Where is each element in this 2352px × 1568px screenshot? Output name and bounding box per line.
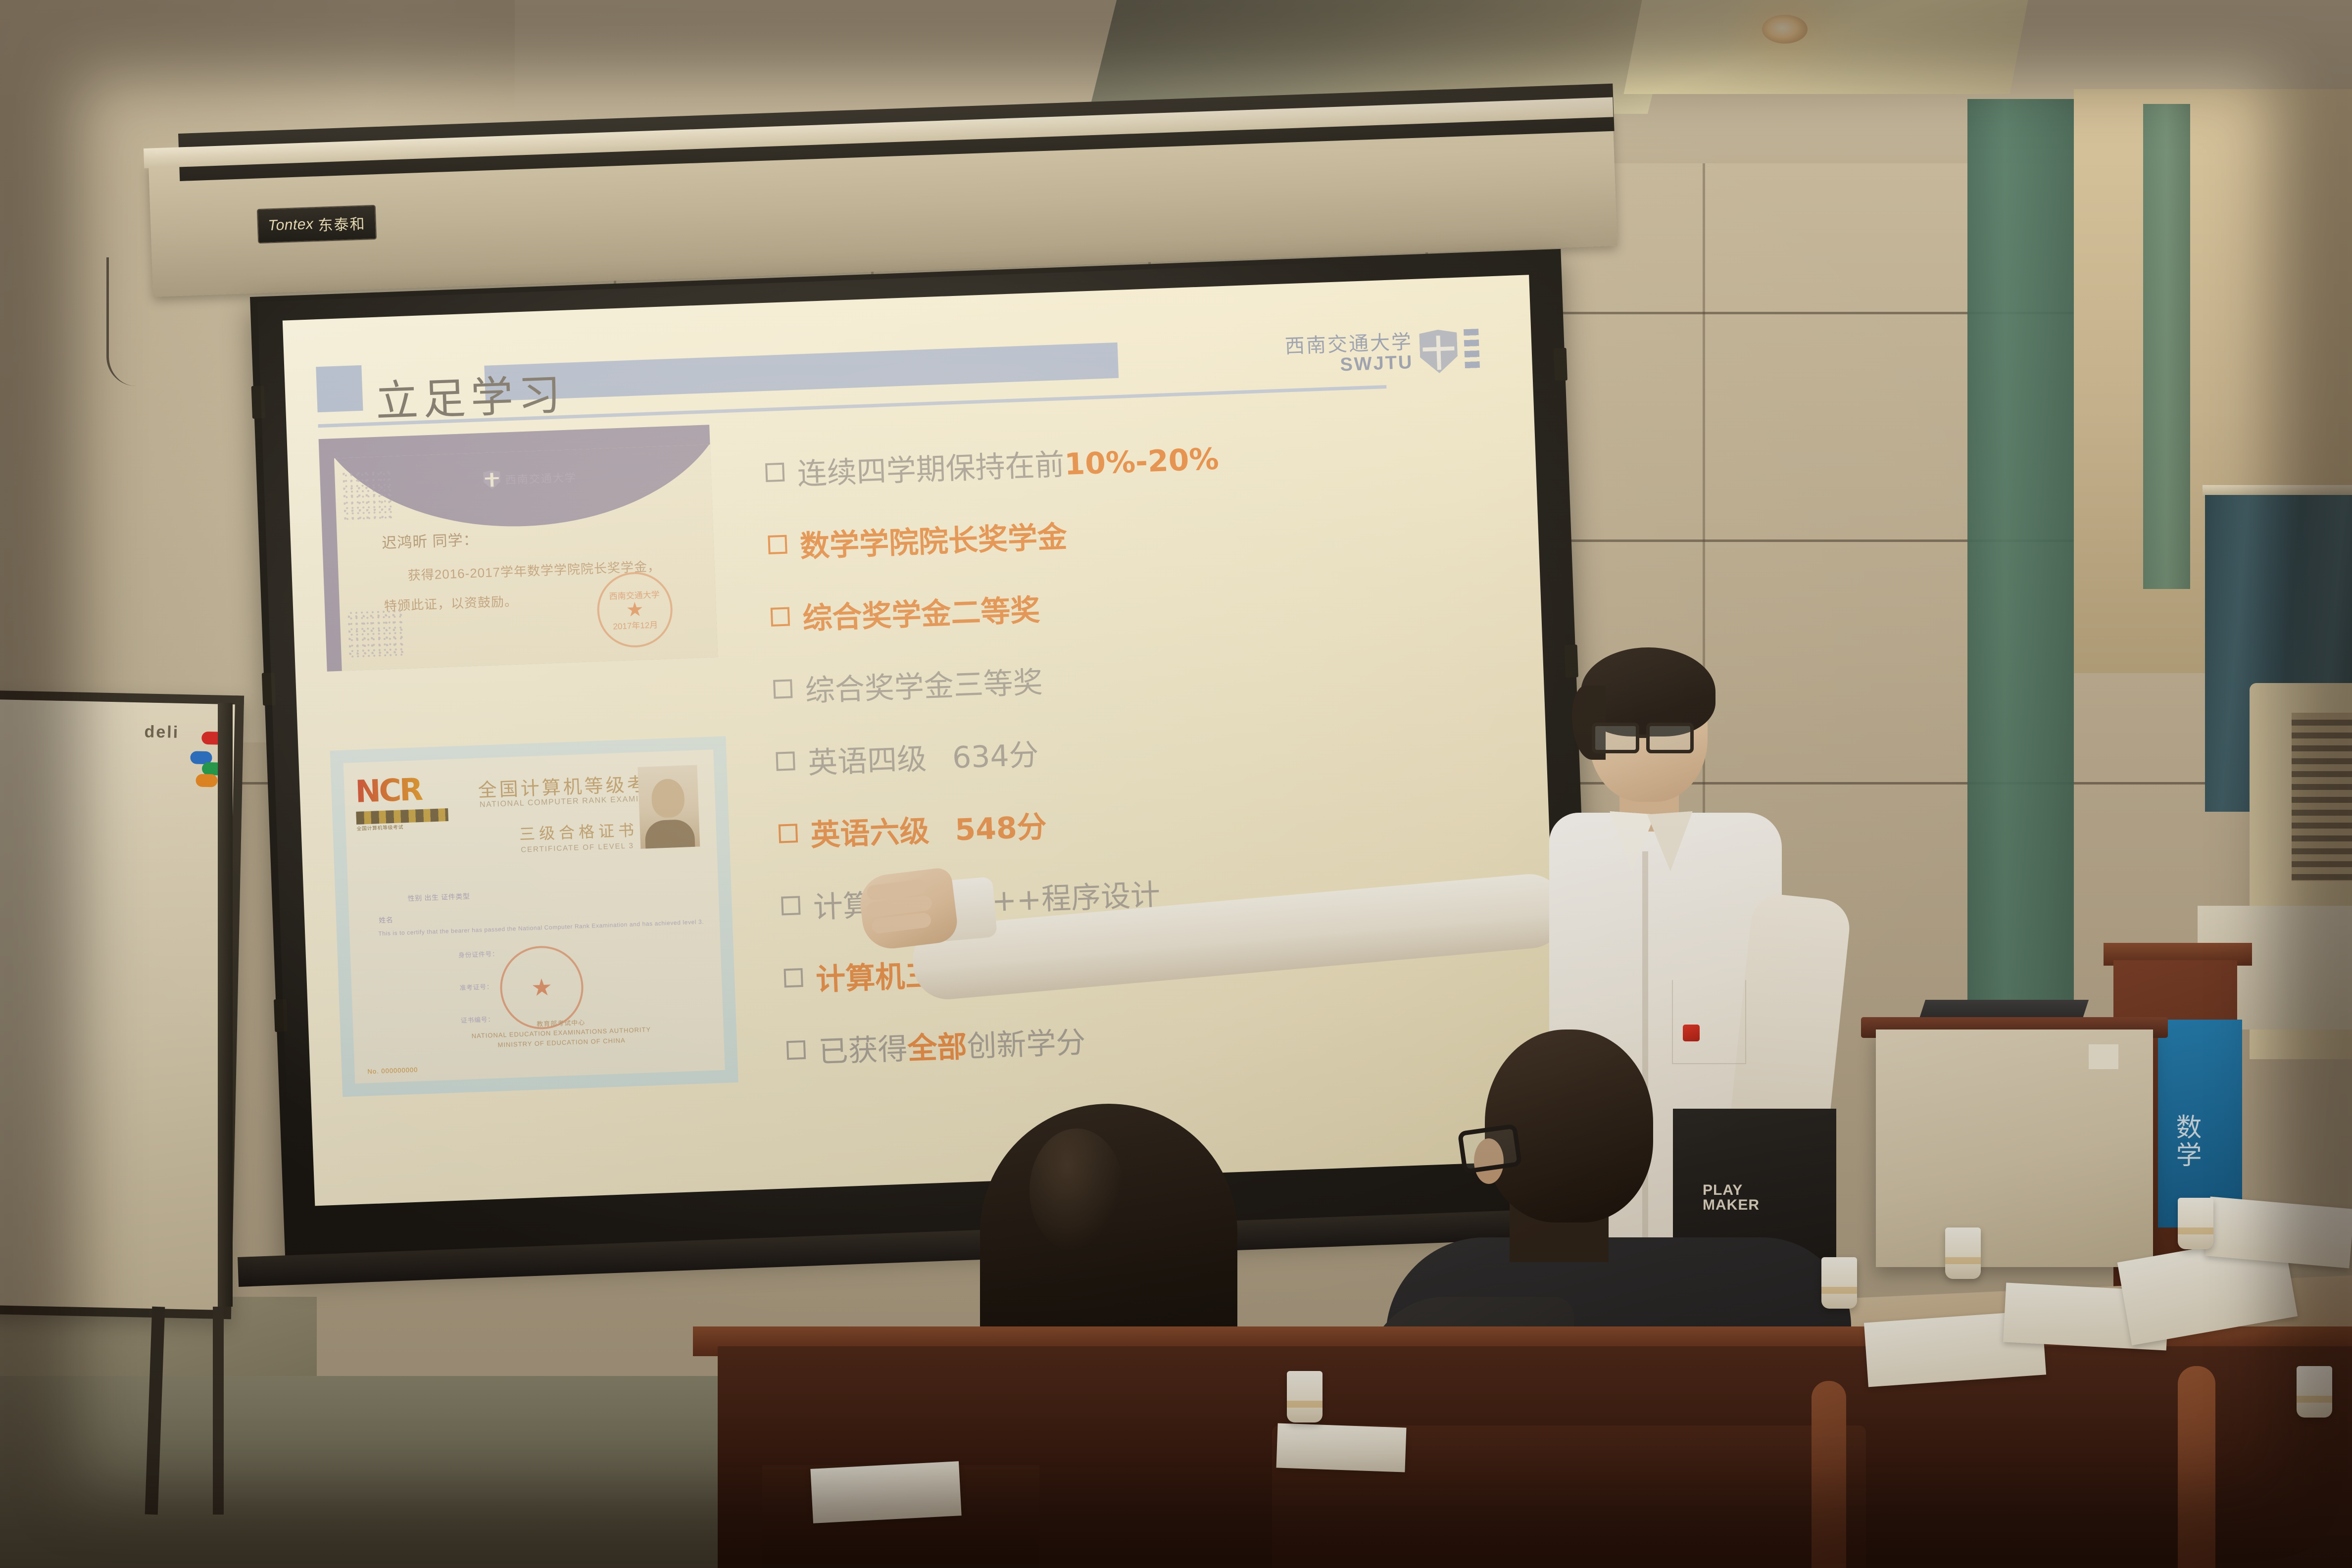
ncre-row-desc: This is to certify that the bearer has p…: [378, 918, 704, 937]
paper-cup: [2178, 1198, 2213, 1249]
ceiling-downlight-icon: [1762, 15, 1808, 44]
university-crest-icon: [1419, 329, 1458, 374]
checkbox-icon: [781, 896, 800, 915]
glasses-icon: [1592, 723, 1639, 753]
checkbox-icon: [773, 679, 792, 698]
certificate-corner-ornament: [347, 608, 404, 660]
glasses-icon: [1458, 1124, 1522, 1174]
bullet-plain-text: 连续四学期保持在前: [797, 447, 1065, 491]
brand-chinese: 东泰和: [318, 212, 366, 235]
air-conditioner-vent-icon: [2292, 713, 2352, 881]
university-logo: 西南交通大学 SWJTU: [1284, 328, 1480, 379]
bullet-highlight-text: 全部: [907, 1029, 967, 1066]
green-pillar-secondary: [2143, 104, 2190, 589]
audience-hair-highlight: [1029, 1128, 1124, 1252]
slide-bullet-text: 综合奖学金三等奖: [804, 658, 1043, 710]
slide-left-column: 西南交通大学 迟鸿昕 同学： 获得2016-2017学年数学学院院长奖学金， 特…: [319, 424, 771, 1172]
bench-armrest: [1812, 1381, 1846, 1568]
certificate-stamp: 西南交通大学 ★ 2017年12月: [596, 571, 674, 648]
university-logo-text: 西南交通大学 SWJTU: [1284, 332, 1414, 377]
title-accent-square: [316, 365, 363, 412]
bullet-highlight-text: 综合奖学金二等奖: [802, 592, 1040, 636]
slide-body: 西南交通大学 迟鸿昕 同学： 获得2016-2017学年数学学院院长奖学金， 特…: [319, 395, 1532, 1171]
stamp-star-icon: ★: [626, 601, 644, 618]
certificate-recipient: 迟鸿昕 同学：: [381, 527, 479, 552]
slide-bullet-text: 英语六级548分: [810, 802, 1047, 854]
slide-bullet-text: 已获得全部创新学分: [818, 1018, 1086, 1071]
certificate-university-name: 西南交通大学: [505, 469, 577, 487]
classroom-scene: Tontex 东泰和 立足学习 西南交通大学 SWJTU: [0, 0, 2352, 1568]
checkbox-icon: [768, 535, 787, 554]
checkbox-icon: [779, 824, 798, 843]
podium-label-tag: [2089, 1044, 2118, 1069]
bullet-plain-text: 综合奖学金三等奖: [805, 665, 1043, 708]
slide-bullet-text: 连续四学期保持在前10%-20%: [796, 435, 1220, 493]
paper-cup: [1821, 1257, 1857, 1309]
power-cable: [106, 257, 151, 386]
checkbox-icon: [786, 1040, 806, 1060]
green-pillar: [1967, 99, 2074, 1114]
ncre-logo: NCR 全国计算机等级考试: [354, 770, 448, 828]
screen-brand-plate: Tontex 东泰和: [257, 205, 377, 244]
whiteboard-magnet: [196, 774, 218, 787]
bench-armrest: [2178, 1366, 2215, 1568]
bullet-plain-text: 英语四级: [807, 741, 927, 781]
ceiling-skylight: [1624, 0, 2029, 94]
bullet-highlight-text: 数学学院院长奖学金: [799, 519, 1068, 564]
ncre-logo-mark: NCR: [354, 770, 448, 810]
bag-text: PLAY MAKER: [1703, 1183, 1760, 1213]
stamp-date: 2017年12月: [613, 618, 658, 632]
ncre-row-exam: 准考证号：: [459, 981, 493, 992]
ncre-certificate-image: NCR 全国计算机等级考试 全国计算机等级考试 NATIONAL COMPUTE…: [330, 736, 738, 1097]
ncre-serial: No. 000000000: [367, 1066, 418, 1076]
lectern-banner-text: 数学: [2168, 1114, 2205, 1169]
bullet-highlight-text: 10%-20%: [1064, 441, 1219, 482]
presenter-pointing-hand: [857, 867, 960, 952]
certificate-university-logo: 西南交通大学: [483, 467, 577, 490]
glasses-icon: [1646, 723, 1694, 753]
bullet-highlight-text: 548分: [954, 809, 1047, 847]
paper-cup: [1287, 1371, 1323, 1422]
floor: [0, 1376, 772, 1568]
slide-bullet-text: 综合奖学金二等奖: [802, 586, 1041, 637]
whiteboard: deli: [0, 690, 244, 1320]
ncre-id-photo: [637, 765, 700, 849]
checkbox-icon: [771, 607, 790, 626]
whiteboard-hinge: [218, 703, 233, 1307]
paper-cup: [2297, 1366, 2332, 1418]
ncre-row-id: 身份证件号：: [458, 948, 499, 959]
presentation-slide: 立足学习 西南交通大学 SWJTU: [283, 275, 1562, 1206]
bullet-plain-text: 创新学分: [966, 1025, 1086, 1064]
paper-sheet: [1276, 1423, 1407, 1472]
paper-sheet: [2205, 1197, 2352, 1269]
certificate-corner-ornament: [343, 471, 393, 521]
brand-latin: Tontex: [268, 216, 314, 234]
slide-bullet-text: 英语四级634分: [807, 731, 1039, 782]
slide-bullet-text: 数学学院院长奖学金: [799, 512, 1068, 565]
checkbox-icon: [784, 968, 803, 987]
bullet-plain-text: 634分: [952, 737, 1039, 775]
projector-screen-surface: 立足学习 西南交通大学 SWJTU: [283, 275, 1562, 1206]
logo-stripes-icon: [1464, 329, 1480, 372]
ncre-level-cn: 三级合格证书: [519, 818, 638, 845]
ncre-row-info: 性别 出生 证件类型: [407, 891, 470, 904]
ncre-row-name: 姓名: [379, 915, 393, 925]
title-accent-bar: [484, 343, 1119, 401]
checkbox-icon: [765, 463, 784, 482]
certificate-body-line-2: 特颁此证，以资鼓励。: [384, 591, 518, 615]
award-certificate-image: 西南交通大学 迟鸿昕 同学： 获得2016-2017学年数学学院院长奖学金， 特…: [319, 425, 718, 672]
paper-sheet: [810, 1461, 961, 1523]
whiteboard-stand-leg: [213, 1307, 224, 1515]
whiteboard-brand-logo: deli: [144, 722, 179, 742]
glasses-bridge-icon: [1638, 735, 1648, 738]
checkbox-icon: [776, 751, 795, 771]
paper-cup: [1945, 1227, 1981, 1279]
bullet-plain-text: 已获得: [818, 1031, 908, 1070]
bullet-highlight-text: 英语六级: [810, 814, 930, 853]
